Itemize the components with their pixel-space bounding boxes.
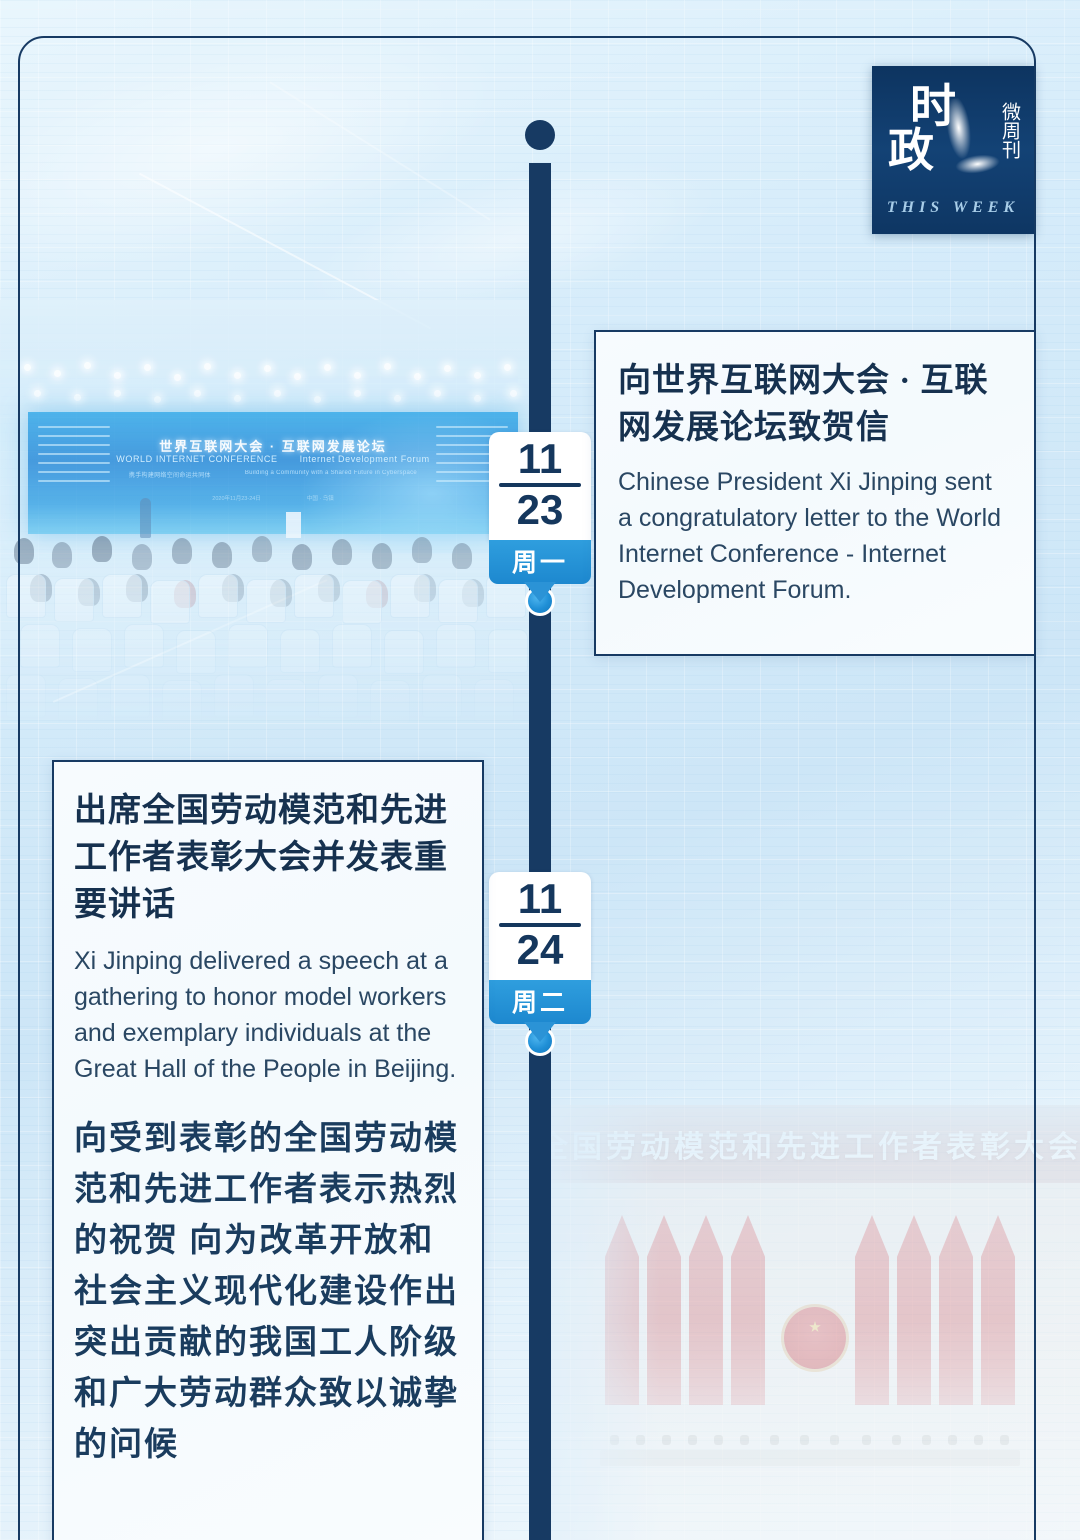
date-weekday: 周一 (489, 540, 591, 584)
news-title-cn: 向世界互联网大会 · 互联网发展论坛致贺信 (618, 358, 1012, 452)
news-body-en: Xi Jinping delivered a speech at a gathe… (74, 943, 462, 1088)
news-card-entry-2[interactable]: 出席全国劳动模范和先进工作者表彰大会并发表重要讲话 Xi Jinping del… (52, 760, 484, 1540)
logo-char-zheng: 政 (888, 128, 934, 174)
date-badge-entry-1[interactable]: 11 23 周一 (489, 432, 591, 584)
date-box: 11 23 (489, 432, 591, 540)
date-badge-entry-2[interactable]: 11 24 周二 (489, 872, 591, 1024)
news-body-en: Chinese President Xi Jinping sent a cong… (618, 464, 1012, 609)
date-month: 11 (489, 438, 591, 481)
news-quote-cn: 向受到表彰的全国劳动模范和先进工作者表示热烈的祝贺 向为改革开放和社会主义现代化… (74, 1114, 462, 1472)
news-title-cn: 出席全国劳动模范和先进工作者表彰大会并发表重要讲话 (74, 788, 462, 929)
date-month: 11 (489, 878, 591, 921)
date-day: 24 (489, 929, 591, 972)
date-pointer-arrow (524, 1022, 556, 1042)
timeline-bar (529, 163, 551, 1540)
poster-page: 世界互联网大会 · 互联网发展论坛 WORLD INTERNET CONFERE… (0, 0, 1080, 1540)
date-day: 23 (489, 489, 591, 532)
logo-vertical-text: 微周刊 (996, 82, 1022, 178)
date-weekday: 周二 (489, 980, 591, 1024)
timeline-top-cap (525, 120, 555, 150)
logo-english-text: THIS WEEK (872, 199, 1034, 217)
magazine-logo-badge: 时 政 微周刊 THIS WEEK (872, 66, 1034, 234)
date-pointer-arrow (524, 582, 556, 602)
news-card-entry-1[interactable]: 向世界互联网大会 · 互联网发展论坛致贺信 Chinese President … (594, 330, 1036, 656)
date-box: 11 24 (489, 872, 591, 980)
